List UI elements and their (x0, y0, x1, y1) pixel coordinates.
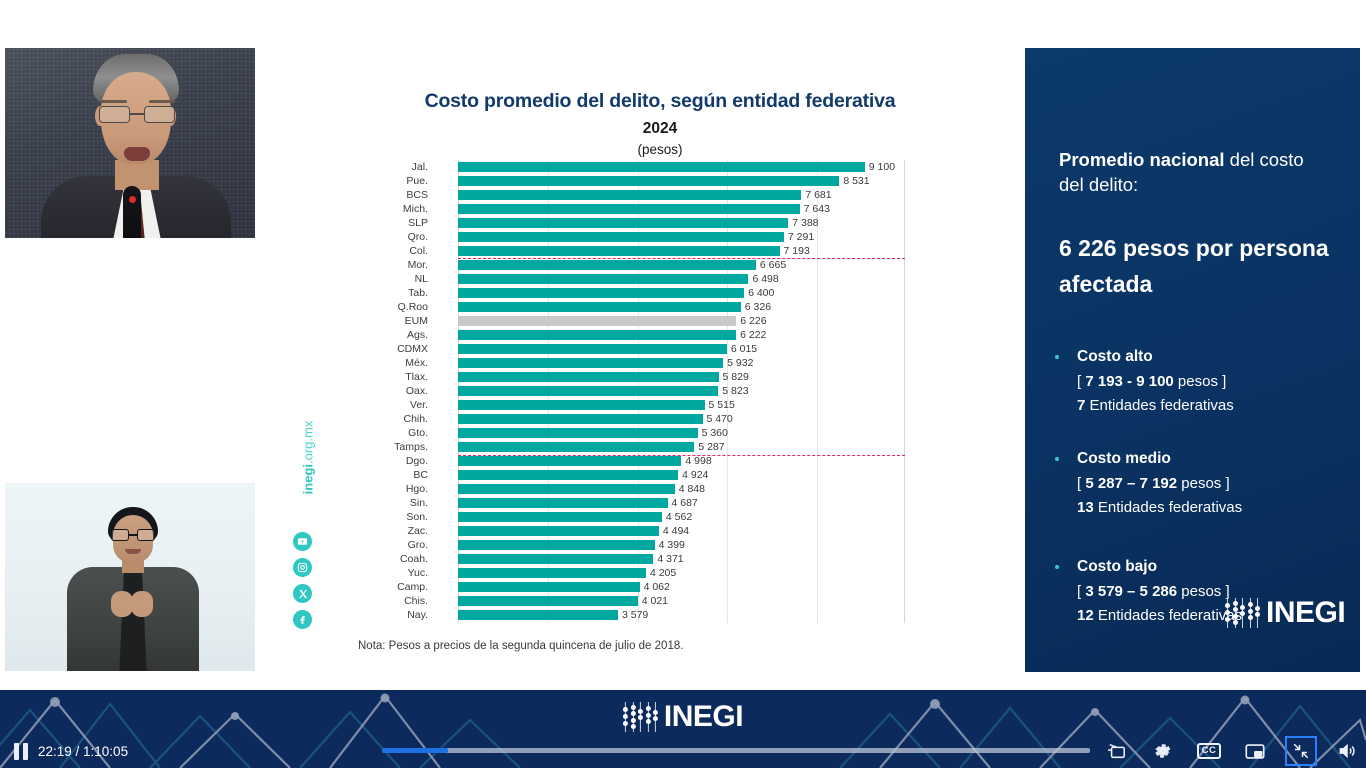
bar-category-label: Tlax. (360, 372, 428, 383)
pause-button[interactable] (10, 741, 32, 761)
bucket-range-value: 3 579 – 5 286 (1085, 583, 1177, 600)
bar-row: Son.4 562 (360, 510, 905, 524)
bucket-count: 7 Entidades federativas (1077, 397, 1345, 414)
bar-category-label: Jal. (360, 162, 428, 173)
bar-zone: 7 193 (458, 244, 905, 258)
bar-value-label: 5 515 (709, 399, 735, 412)
bar (458, 274, 748, 284)
bar-category-label: BCS (360, 190, 428, 201)
bucket-title: Costo bajo (1077, 558, 1345, 576)
bar (458, 302, 741, 312)
bar (458, 512, 662, 522)
bar-row: Tamps.5 287 (360, 440, 905, 454)
bar (458, 484, 675, 494)
speaker-brow-left (101, 100, 127, 103)
bucket-count-number: 13 (1077, 499, 1094, 516)
bar-value-label: 4 687 (672, 497, 698, 510)
bar (458, 540, 655, 550)
bar (458, 190, 801, 200)
bar-category-label: Méx. (360, 358, 428, 369)
bar-row: Gto.5 360 (360, 426, 905, 440)
bar-category-label: Ags. (360, 330, 428, 341)
bar-row: CDMX6 015 (360, 342, 905, 356)
inegi-wordmark: INEGI (664, 700, 743, 734)
bar-zone: 4 687 (458, 496, 905, 510)
bar-value-label: 7 643 (804, 203, 830, 216)
speaker-neck (115, 160, 159, 190)
bar-value-label: 4 062 (644, 581, 670, 594)
inegi-abacus-icon (623, 702, 658, 732)
bar-zone: 8 531 (458, 174, 905, 188)
bar-value-label: 4 924 (682, 469, 708, 482)
bar-row: Mich.7 643 (360, 202, 905, 216)
bucket-count: 13 Entidades federativas (1077, 499, 1345, 516)
bar-zone: 6 326 (458, 300, 905, 314)
bar-row: NL6 498 (360, 272, 905, 286)
inegi-logo-panel: INEGI (1225, 596, 1345, 630)
bar-zone: 5 932 (458, 356, 905, 370)
bucket-count-label: Entidades federativas (1094, 607, 1242, 624)
bar-value-label: 5 823 (722, 385, 748, 398)
bar-row: BCS7 681 (360, 188, 905, 202)
interpreter-mouth (125, 549, 141, 554)
bar-category-label: Tab. (360, 288, 428, 299)
bar (458, 442, 694, 452)
bar-row: Ver.5 515 (360, 398, 905, 412)
bar-category-label: SLP (360, 218, 428, 229)
bar-value-label: 6 222 (740, 329, 766, 342)
bar-value-label: 4 205 (650, 567, 676, 580)
bar-zone: 7 291 (458, 230, 905, 244)
bar-zone: 6 226 (458, 314, 905, 328)
social-strip: inegi.org.mx (290, 420, 324, 620)
bracket-close: pesos ] (1177, 475, 1230, 492)
chart-note: Nota: Pesos a precios de la segunda quin… (358, 640, 683, 652)
bar-row: Nay.3 579 (360, 609, 905, 623)
bar (458, 568, 646, 578)
speaker-glasses (97, 106, 177, 123)
bar-category-label: Chih. (360, 414, 428, 425)
bar-zone: 3 579 (458, 609, 905, 623)
captions-button[interactable]: CC (1196, 739, 1222, 763)
bar-value-label: 7 681 (805, 189, 831, 202)
microphone-icon (123, 186, 141, 238)
sign-language-interpreter-video[interactable] (5, 483, 255, 671)
bar-row: Hgo.4 848 (360, 482, 905, 496)
bucket-count-label: Entidades federativas (1094, 499, 1242, 516)
bar-row: Qro.7 291 (360, 230, 905, 244)
bar-category-label: EUM (360, 316, 428, 327)
player-controls: 22:19 / 1:10:05 C (0, 734, 1366, 768)
inegi-wordmark: INEGI (1266, 596, 1345, 630)
bar-zone: 6 665 (458, 258, 905, 272)
bar-row: Coah.4 371 (360, 552, 905, 566)
bar (458, 162, 865, 172)
exit-fullscreen-button[interactable] (1288, 739, 1314, 763)
bucket-title: Costo alto (1077, 348, 1345, 366)
bar-row: Gro.4 399 (360, 538, 905, 552)
bar (458, 218, 788, 228)
bar (458, 330, 736, 340)
bar-row: Méx.5 932 (360, 356, 905, 370)
speaker-video[interactable] (5, 48, 255, 238)
bar-category-label: Hgo. (360, 484, 428, 495)
panel-lead: Promedio nacional del costo del delito: (1059, 148, 1329, 198)
bar (458, 428, 698, 438)
bar-category-label: CDMX (360, 344, 428, 355)
interpreter-hand-left (111, 591, 133, 617)
bar-row: Pue.8 531 (360, 174, 905, 188)
bar-category-label: Oax. (360, 386, 428, 397)
inegi-abacus-icon (1225, 598, 1260, 628)
bar-category-label: Mich. (360, 204, 428, 215)
bar-category-label: Dgo. (360, 456, 428, 467)
bar (458, 498, 668, 508)
bar-zone: 6 400 (458, 286, 905, 300)
bar-zone: 4 021 (458, 594, 905, 608)
bar-zone: 4 399 (458, 538, 905, 552)
speaker-mouth (124, 147, 150, 161)
bar (458, 232, 784, 242)
bar-row: Mor.6 665 (360, 258, 905, 272)
bar-zone: 4 998 (458, 454, 905, 468)
bar-value-label: 4 399 (659, 539, 685, 552)
bar-value-label: 9 100 (869, 161, 895, 174)
bar-value-label: 4 562 (666, 511, 692, 524)
bucket-count-label: Entidades federativas (1085, 397, 1233, 414)
bar-value-label: 6 498 (752, 273, 778, 286)
chart-title: Costo promedio del delito, según entidad… (330, 90, 990, 113)
bar-category-label: Chis. (360, 596, 428, 607)
bar-zone: 6 222 (458, 328, 905, 342)
facebook-icon[interactable] (293, 610, 312, 629)
bucket-range: [ 5 287 – 7 192 pesos ] (1077, 475, 1345, 492)
bar-category-label: BC (360, 470, 428, 481)
bar (458, 470, 678, 480)
bar-category-label: Son. (360, 512, 428, 523)
bar-zone: 4 848 (458, 482, 905, 496)
bar-value-label: 4 848 (679, 483, 705, 496)
bar-row: Jal.9 100 (360, 160, 905, 174)
bar-value-label: 6 226 (740, 315, 766, 328)
bar-value-label: 5 932 (727, 357, 753, 370)
chart-units: (pesos) (330, 142, 990, 157)
bar-row: Oax.5 823 (360, 384, 905, 398)
youtube-icon[interactable] (293, 532, 312, 551)
bar-row: SLP7 388 (360, 216, 905, 230)
bar (458, 554, 653, 564)
bar-value-label: 7 291 (788, 231, 814, 244)
bar-value-label: 5 829 (723, 371, 749, 384)
bullet-icon (1055, 355, 1059, 359)
bar (458, 204, 800, 214)
volume-button[interactable] (1334, 739, 1360, 763)
bar (458, 414, 703, 424)
bucket-range-value: 7 193 - 9 100 (1085, 373, 1173, 390)
bar-row: Q.Roo6 326 (360, 300, 905, 314)
threshold-divider (458, 455, 905, 456)
bar-zone: 6 498 (458, 272, 905, 286)
bullet-icon (1055, 457, 1059, 461)
instagram-icon[interactable] (293, 558, 312, 577)
bar-category-label: Gto. (360, 428, 428, 439)
bar-row: BC4 924 (360, 468, 905, 482)
inegi-logo-footer: INEGI (623, 700, 743, 734)
bar-category-label: Camp. (360, 582, 428, 593)
bar-category-label: Mor. (360, 260, 428, 271)
bar-category-label: Nay. (360, 610, 428, 621)
interpreter-hand-right (131, 591, 153, 617)
bar-row: EUM6 226 (360, 314, 905, 328)
speaker-brow-right (149, 100, 175, 103)
bucket-range-value: 5 287 – 7 192 (1085, 475, 1177, 492)
slide-area: inegi.org.mx Costo promedio del delito, … (0, 0, 1366, 690)
bar-value-label: 5 287 (698, 441, 724, 454)
bar-category-label: Qro. (360, 232, 428, 243)
bar (458, 386, 718, 396)
bracket-close: pesos ] (1177, 583, 1230, 600)
bar-category-label: Sin. (360, 498, 428, 509)
bar-row: Tab.6 400 (360, 286, 905, 300)
bar-value-label: 4 371 (657, 553, 683, 566)
progress-fill (382, 748, 448, 753)
website-url-brand: inegi (301, 464, 316, 494)
bar-row: Dgo.4 998 (360, 454, 905, 468)
bucket-costo-alto: Costo alto [ 7 193 - 9 100 pesos ] 7 Ent… (1055, 348, 1345, 414)
bar-category-label: Col. (360, 246, 428, 257)
bar-category-label: Q.Roo (360, 302, 428, 313)
bracket-close: pesos ] (1174, 373, 1227, 390)
presentation-viewer: inegi.org.mx Costo promedio del delito, … (0, 0, 1366, 768)
bar-row: Ags.6 222 (360, 328, 905, 342)
bar-category-label: Zac. (360, 526, 428, 537)
picture-in-picture-button[interactable] (1242, 739, 1268, 763)
bar-value-label: 4 998 (685, 455, 711, 468)
bar-zone: 5 829 (458, 370, 905, 384)
bar-value-label: 4 494 (663, 525, 689, 538)
bucket-title: Costo medio (1077, 450, 1345, 468)
chart-card: Costo promedio del delito, según entidad… (330, 48, 990, 660)
bar-value-label: 5 470 (707, 413, 733, 426)
bar-value-label: 8 531 (843, 175, 869, 188)
bar-value-label: 4 021 (642, 595, 668, 608)
bar-zone: 4 924 (458, 468, 905, 482)
bar (458, 610, 618, 620)
bar-value-label: 7 193 (784, 245, 810, 258)
bullet-icon (1055, 565, 1059, 569)
bar-zone: 9 100 (458, 160, 905, 174)
bar-value-label: 6 665 (760, 259, 786, 272)
bar (458, 358, 723, 368)
captions-label: CC (1197, 743, 1222, 759)
bar-value-label: 7 388 (792, 217, 818, 230)
progress-bar[interactable] (382, 748, 1090, 753)
website-url-domain: .org.mx (301, 421, 316, 464)
bar (458, 372, 719, 382)
bar-row: Tlax.5 829 (360, 370, 905, 384)
slideshow-button[interactable] (1104, 739, 1130, 763)
microphone-indicator (129, 196, 136, 203)
bar-rows: Jal.9 100Pue.8 531BCS7 681Mich.7 643SLP7… (360, 160, 905, 623)
bar-value-label: 6 015 (731, 343, 757, 356)
time-display: 22:19 / 1:10:05 (38, 744, 128, 759)
bar-value-label: 6 400 (748, 287, 774, 300)
player-bottom-bar: INEGI 22:19 / 1:10:05 (0, 690, 1366, 768)
chart-subtitle: 2024 (330, 120, 990, 138)
bar-category-label: Pue. (360, 176, 428, 187)
bar-zone: 4 494 (458, 524, 905, 538)
bar-zone: 4 562 (458, 510, 905, 524)
bar-zone: 6 015 (458, 342, 905, 356)
bar-category-label: Yuc. (360, 568, 428, 579)
bucket-range: [ 7 193 - 9 100 pesos ] (1077, 373, 1345, 390)
bar-category-label: Tamps. (360, 442, 428, 453)
bar (458, 456, 681, 466)
bar-zone: 5 823 (458, 384, 905, 398)
bar-value-label: 3 579 (622, 609, 648, 622)
bar (458, 246, 780, 256)
bar-value-label: 5 360 (702, 427, 728, 440)
bar-zone: 7 388 (458, 216, 905, 230)
bar-zone: 5 360 (458, 426, 905, 440)
bar-row: Chih.5 470 (360, 412, 905, 426)
bar-row: Col.7 193 (360, 244, 905, 258)
bar-zone: 4 205 (458, 566, 905, 580)
x-twitter-icon[interactable] (293, 584, 312, 603)
bar-zone: 4 062 (458, 580, 905, 594)
bar-zone: 5 287 (458, 440, 905, 454)
threshold-divider (458, 258, 905, 259)
panel-lead-bold: Promedio nacional (1059, 149, 1225, 170)
bar-zone: 5 470 (458, 412, 905, 426)
bucket-costo-medio: Costo medio [ 5 287 – 7 192 pesos ] 13 E… (1055, 450, 1345, 516)
bar-category-label: Coah. (360, 554, 428, 565)
bar (458, 288, 744, 298)
chart-plot-area: Jal.9 100Pue.8 531BCS7 681Mich.7 643SLP7… (360, 160, 905, 623)
bar (458, 582, 640, 592)
bar-row: Zac.4 494 (360, 524, 905, 538)
bar-category-label: Gro. (360, 540, 428, 551)
bar (458, 596, 638, 606)
bar-zone: 7 643 (458, 202, 905, 216)
bucket-count-number: 12 (1077, 607, 1094, 624)
bar (458, 316, 736, 326)
bar (458, 526, 659, 536)
bar-category-label: Ver. (360, 400, 428, 411)
interpreter-glasses (110, 529, 156, 541)
bar (458, 176, 839, 186)
bar-zone: 4 371 (458, 552, 905, 566)
bar (458, 260, 756, 270)
bar (458, 400, 705, 410)
bar-zone: 7 681 (458, 188, 905, 202)
bar-row: Sin.4 687 (360, 496, 905, 510)
bar (458, 344, 727, 354)
bar-zone: 5 515 (458, 398, 905, 412)
bar-row: Chis.4 021 (360, 594, 905, 608)
national-average-value: 6 226 pesos por persona afectada (1059, 231, 1339, 302)
bar-category-label: NL (360, 274, 428, 285)
settings-button[interactable] (1150, 739, 1176, 763)
website-url[interactable]: inegi.org.mx (301, 418, 316, 498)
player-right-controls: CC (1104, 734, 1360, 768)
summary-panel: Promedio nacional del costo del delito: … (1025, 48, 1360, 672)
bar-value-label: 6 326 (745, 301, 771, 314)
bar-row: Camp.4 062 (360, 580, 905, 594)
bar-row: Yuc.4 205 (360, 566, 905, 580)
